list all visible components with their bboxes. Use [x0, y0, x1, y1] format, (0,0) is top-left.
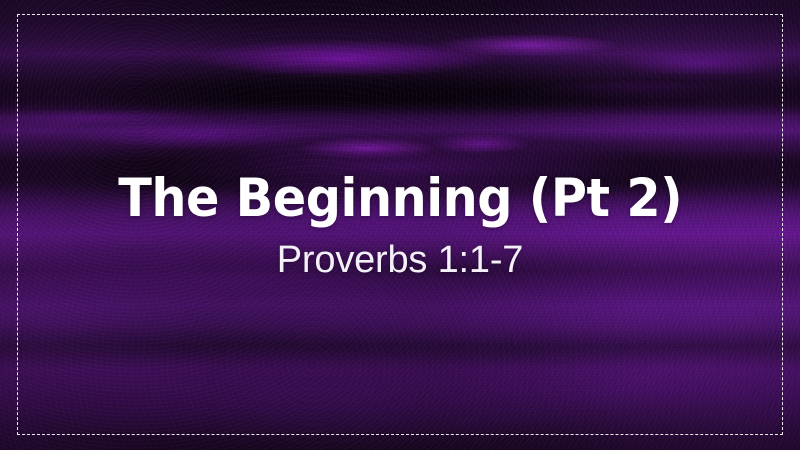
slide-subtitle-scripture-reference: Proverbs 1:1-7: [277, 241, 523, 279]
title-slide: The Beginning (Pt 2) Proverbs 1:1-7: [0, 0, 800, 450]
slide-content: The Beginning (Pt 2) Proverbs 1:1-7: [0, 0, 800, 450]
slide-title: The Beginning (Pt 2): [118, 172, 682, 225]
